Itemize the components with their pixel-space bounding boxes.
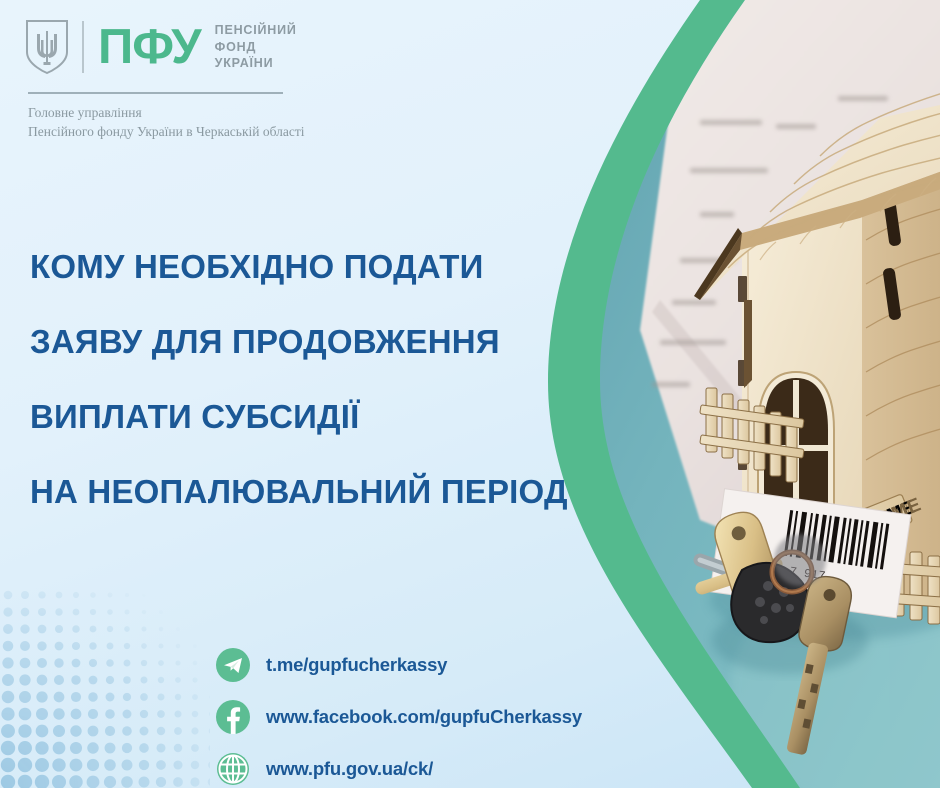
headline-line-3: ВИПЛАТИ СУБСИДІЇ — [30, 400, 590, 433]
contact-label-telegram: t.me/gupfucherkassy — [266, 654, 447, 676]
contact-label-website: www.pfu.gov.ua/ck/ — [266, 758, 433, 780]
pfu-acronym: ПФУ — [98, 23, 201, 72]
office-name-line1: Головне управління — [28, 103, 324, 123]
headline-line-1: КОМУ НЕОБХІДНО ПОДАТИ — [30, 250, 590, 283]
pfu-fullname-line2: ФОНД — [215, 39, 297, 56]
contact-row-facebook[interactable]: www.facebook.com/gupfuCherkassy — [216, 700, 582, 734]
telegram-icon — [216, 648, 250, 682]
pfu-fullname: ПЕНСІЙНИЙ ФОНД УКРАЇНИ — [215, 22, 297, 72]
office-name-line2: Пенсійного фонду України в Черкаській об… — [28, 122, 324, 142]
office-name: Головне управління Пенсійного фонду Укра… — [28, 103, 324, 142]
pfu-logo-block: ПФУ ПЕНСІЙНИЙ ФОНД УКРАЇНИ Головне управ… — [24, 18, 324, 142]
globe-icon — [216, 752, 250, 786]
headline-line-4: НА НЕОПАЛЮВАЛЬНИЙ ПЕРІОД — [30, 475, 590, 508]
contact-row-telegram[interactable]: t.me/gupfucherkassy — [216, 648, 582, 682]
headline-line-2: ЗАЯВУ ДЛЯ ПРОДОВЖЕННЯ — [30, 325, 590, 358]
poster-canvas: WELCOME WELCOME 7 917 — [0, 0, 940, 788]
contact-links: t.me/gupfucherkassy www.facebook.com/gup… — [216, 648, 582, 786]
facebook-icon — [216, 700, 250, 734]
logo-divider — [82, 21, 84, 73]
pfu-fullname-line3: УКРАЇНИ — [215, 55, 297, 72]
headline: КОМУ НЕОБХІДНО ПОДАТИ ЗАЯВУ ДЛЯ ПРОДОВЖЕ… — [30, 250, 590, 508]
contact-label-facebook: www.facebook.com/gupfuCherkassy — [266, 706, 582, 728]
contact-row-website[interactable]: www.pfu.gov.ua/ck/ — [216, 752, 582, 786]
pfu-fullname-line1: ПЕНСІЙНИЙ — [215, 22, 297, 39]
logo-horizontal-rule — [28, 92, 283, 94]
ukraine-trident-shield-icon — [24, 18, 70, 76]
